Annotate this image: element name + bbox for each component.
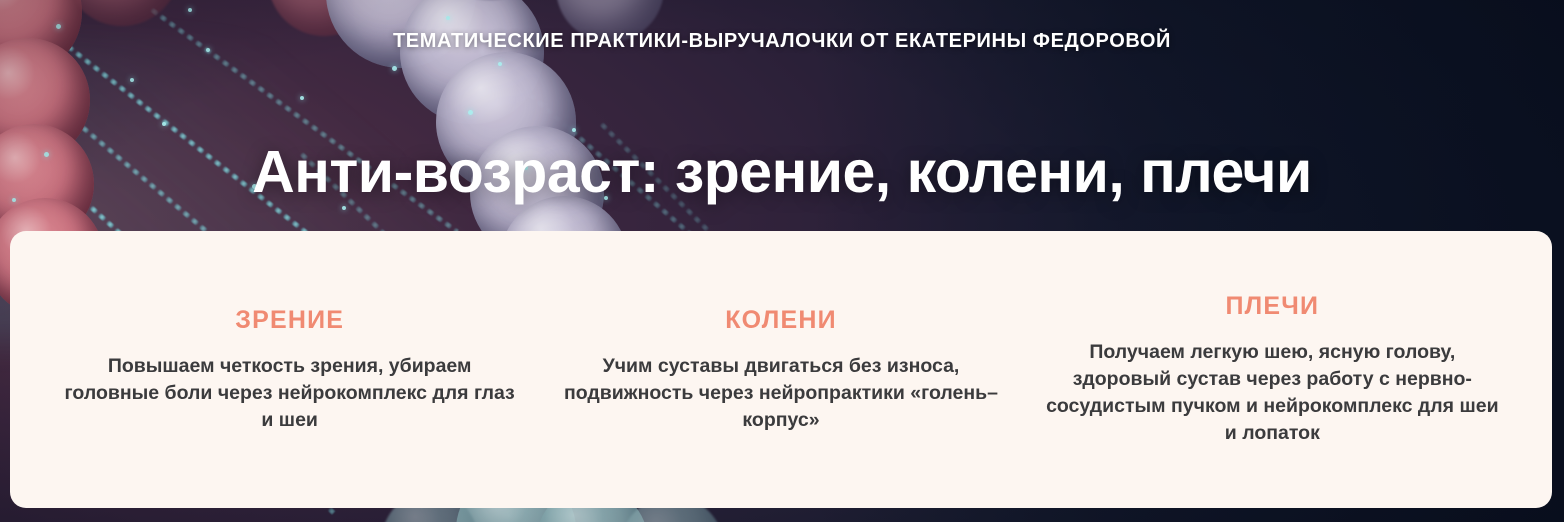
benefit-column-vision: ЗРЕНИЕ Повышаем четкость зрения, убираем… [44, 306, 535, 434]
benefit-title: ЗРЕНИЕ [58, 306, 521, 335]
benefit-column-shoulders: ПЛЕЧИ Получаем легкую шею, ясную голову,… [1027, 292, 1518, 447]
benefit-title: КОЛЕНИ [549, 306, 1012, 335]
benefits-card: ЗРЕНИЕ Повышаем четкость зрения, убираем… [10, 231, 1552, 508]
benefit-description: Получаем легкую шею, ясную голову, здоро… [1041, 339, 1504, 447]
benefit-description: Повышаем четкость зрения, убираем головн… [58, 353, 521, 434]
hero-banner: ТЕМАТИЧЕСКИЕ ПРАКТИКИ-ВЫРУЧАЛОЧКИ ОТ ЕКА… [0, 0, 1564, 522]
hero-eyebrow: ТЕМАТИЧЕСКИЕ ПРАКТИКИ-ВЫРУЧАЛОЧКИ ОТ ЕКА… [0, 30, 1564, 53]
page-title: Анти-возраст: зрение, колени, плечи [0, 138, 1564, 206]
benefit-title: ПЛЕЧИ [1041, 292, 1504, 321]
benefit-column-knees: КОЛЕНИ Учим суставы двигаться без износа… [535, 306, 1026, 434]
benefit-description: Учим суставы двигаться без износа, подви… [549, 353, 1012, 434]
